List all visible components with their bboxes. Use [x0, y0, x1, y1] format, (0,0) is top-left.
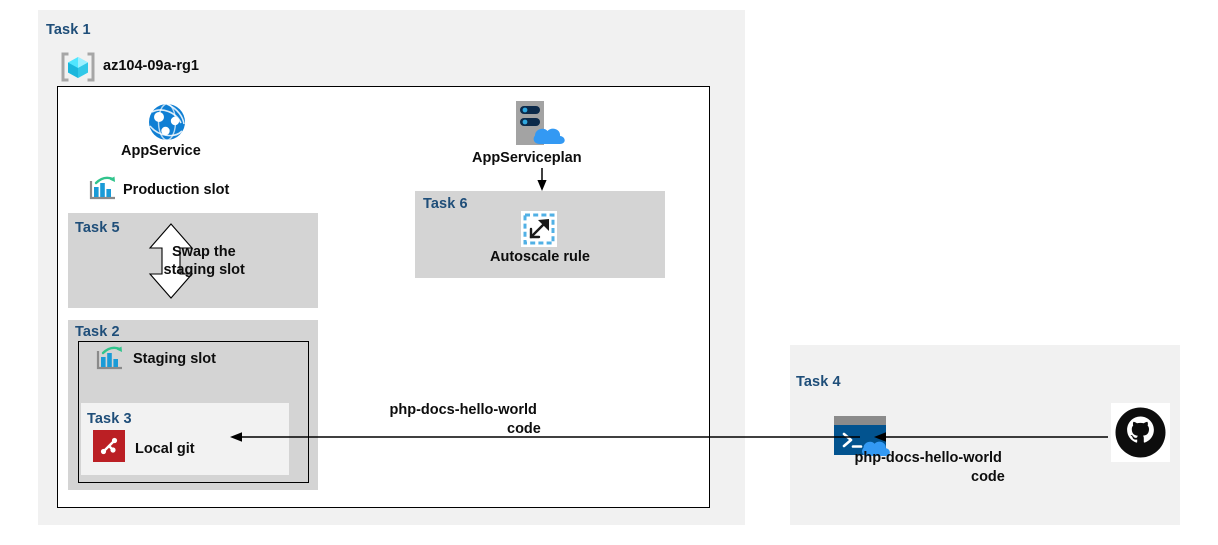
production-slot-label: Production slot [123, 182, 229, 199]
task4-label: Task 4 [796, 374, 841, 390]
app-service-label: AppService [121, 143, 201, 160]
shell-to-localgit-label-line2: code [507, 421, 541, 438]
staging-slot-label: Staging slot [133, 351, 216, 368]
diagram-canvas: Task 1 az104-09a-rg1 AppService [0, 0, 1218, 545]
resource-group-cube-icon [61, 51, 95, 83]
swap-slot-label-line2: staging slot [164, 262, 245, 279]
app-service-plan-label: AppServiceplan [472, 150, 582, 167]
resource-group-label: az104-09a-rg1 [103, 58, 199, 75]
task6-label: Task 6 [423, 196, 468, 212]
github-to-shell-label-line2: code [971, 469, 1005, 486]
autoscale-rule-label: Autoscale rule [490, 249, 590, 266]
task1-label: Task 1 [46, 22, 91, 38]
staging-slot-deployment-slot-chart-icon [95, 346, 125, 374]
task5-label: Task 5 [75, 220, 120, 236]
app-service-globe-icon [148, 103, 186, 141]
app-service-plan-server-cloud-icon [513, 99, 569, 147]
swap-slot-label-line1: Swap the [172, 244, 236, 261]
shell-to-localgit-label-line1: php-docs-hello-world [390, 402, 537, 419]
github-octocat-icon [1111, 403, 1170, 462]
task3-label: Task 3 [87, 411, 132, 427]
github-to-shell-label-line1: php-docs-hello-world [855, 450, 1002, 467]
local-git-label: Local git [135, 441, 195, 458]
autoscale-expand-arrow-icon [521, 211, 557, 247]
task2-label: Task 2 [75, 324, 120, 340]
git-repository-icon [93, 430, 125, 462]
production-slot-deployment-slot-chart-icon [88, 176, 118, 204]
